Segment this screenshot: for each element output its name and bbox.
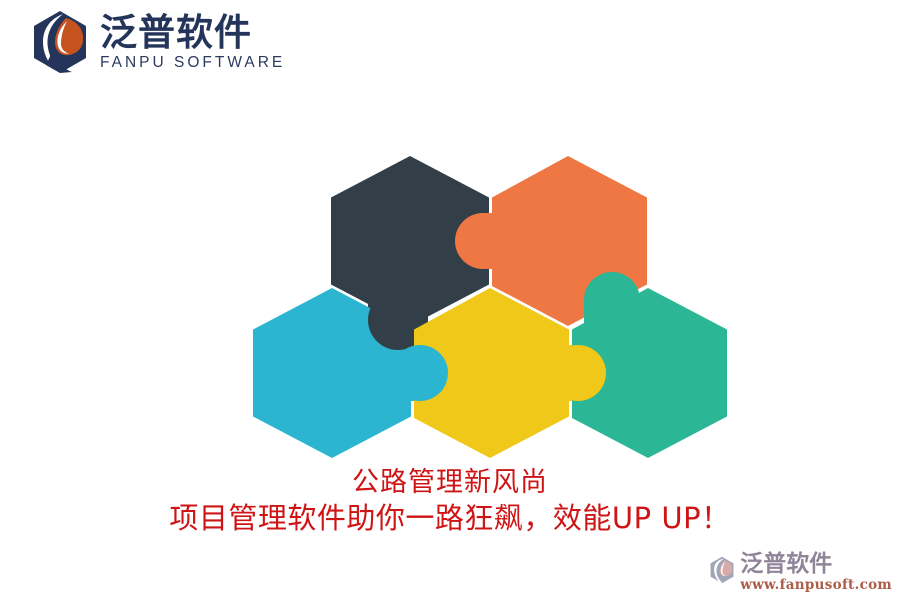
piece-yellow <box>392 288 606 458</box>
headline-line-1: 公路管理新风尚 <box>0 466 900 499</box>
brand-name-en: FANPU SOFTWARE <box>100 54 285 72</box>
watermark-brand-cn: 泛普软件 <box>740 552 892 576</box>
piece-dark <box>331 156 489 350</box>
watermark[interactable]: 泛普软件 www.fanpusoft.com <box>707 552 892 593</box>
brand-text-group: 泛普软件 FANPU SOFTWARE <box>100 12 285 73</box>
fanpu-hexagon-logo-icon <box>26 8 94 76</box>
watermark-text-group: 泛普软件 www.fanpusoft.com <box>740 552 892 593</box>
piece-cyan <box>253 288 448 458</box>
headline-block: 公路管理新风尚 项目管理软件助你一路狂飙，效能UP UP！ <box>0 466 900 537</box>
piece-orange <box>455 156 647 326</box>
fanpu-hexagon-watermark-icon <box>707 555 737 585</box>
banner-canvas: 泛普软件 FANPU SOFTWARE <box>0 0 900 600</box>
piece-teal <box>550 272 727 458</box>
headline-line-2: 项目管理软件助你一路狂飙，效能UP UP！ <box>0 499 900 537</box>
brand-name-cn: 泛普软件 <box>100 14 285 52</box>
brand-logo[interactable]: 泛普软件 FANPU SOFTWARE <box>26 8 285 76</box>
watermark-url: www.fanpusoft.com <box>740 577 892 593</box>
